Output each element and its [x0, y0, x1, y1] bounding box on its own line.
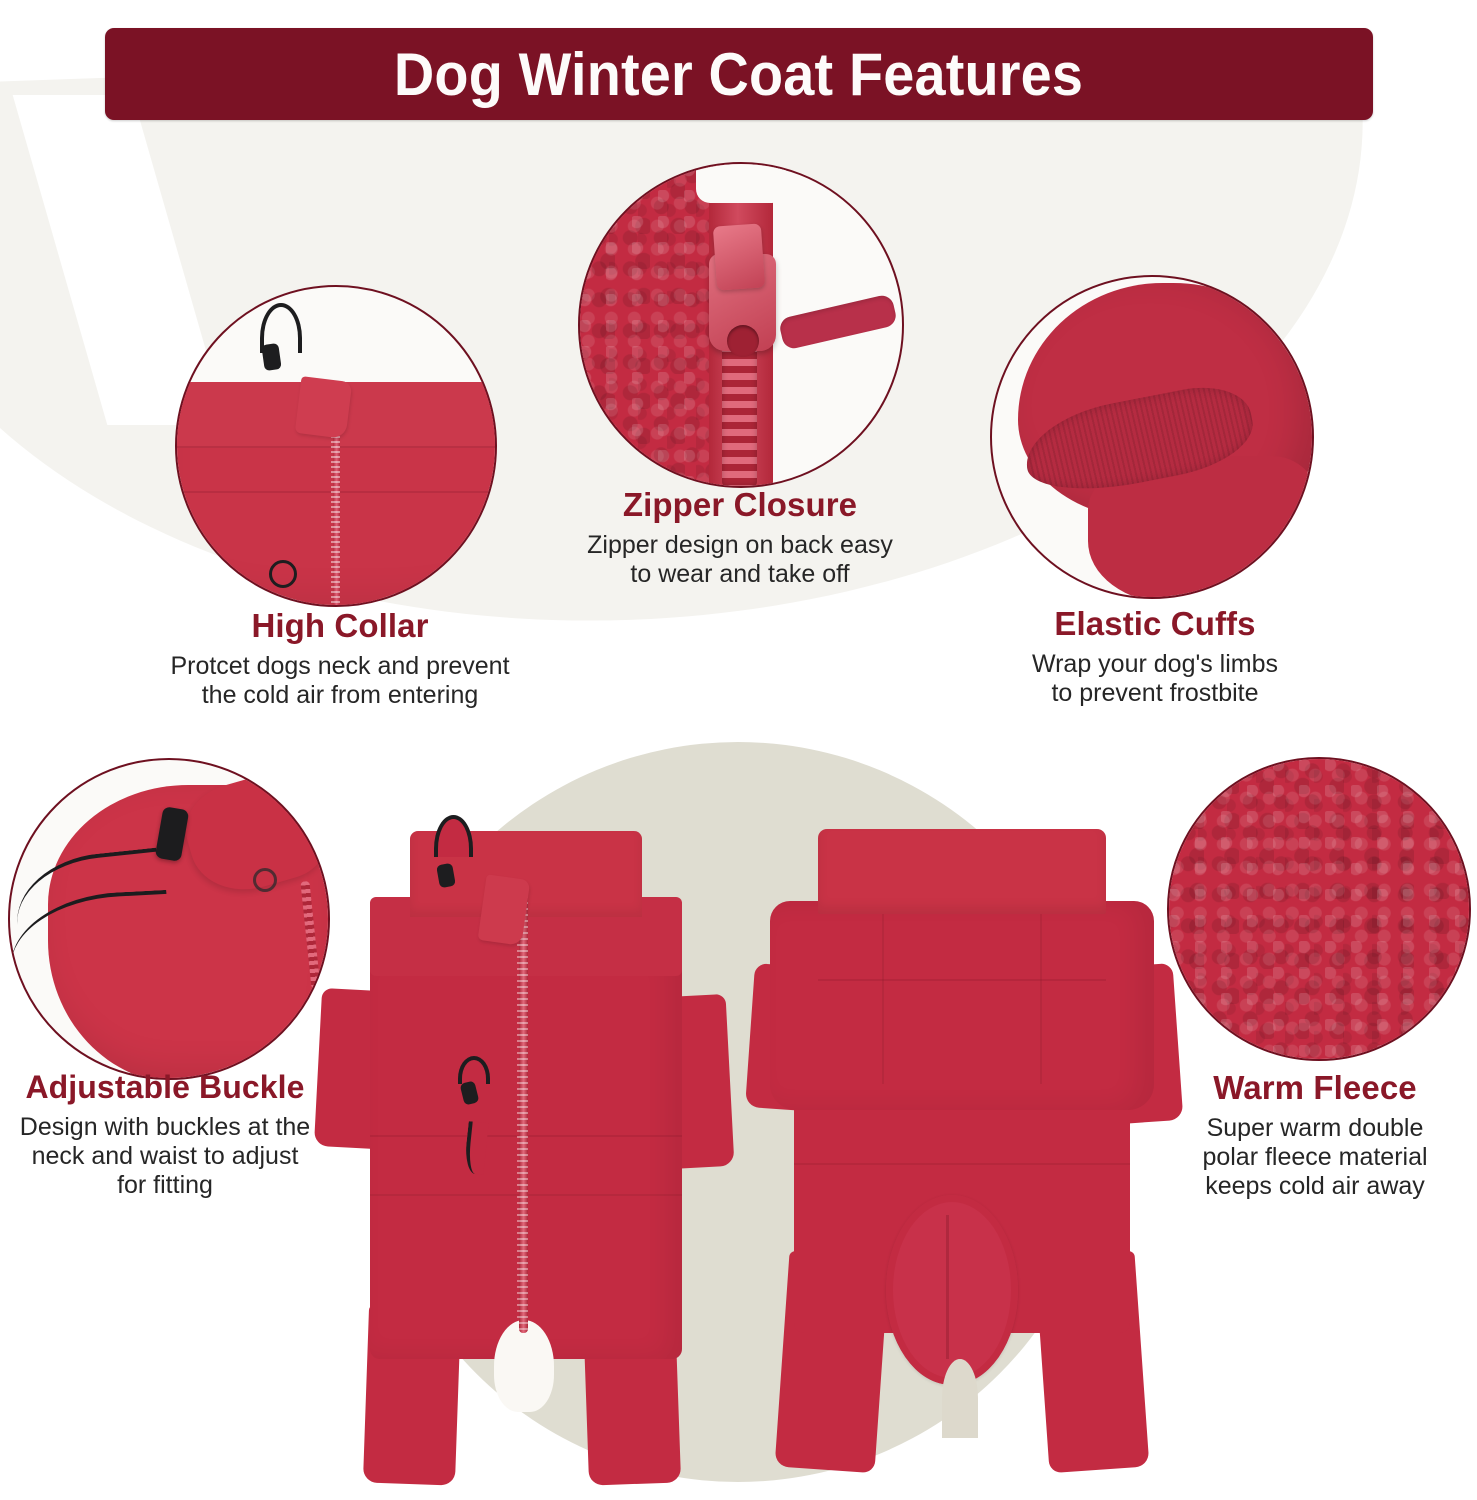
product-photo-front-view — [322, 818, 722, 1478]
zipper-fabric-ridge — [778, 293, 898, 350]
feature-description: Design with buckles at the neck and wais… — [0, 1113, 330, 1200]
back-collar — [818, 829, 1106, 914]
page-title: Dog Winter Coat Features — [394, 40, 1083, 109]
back-seam-vertical-right — [1040, 914, 1042, 1084]
feature-image-adjustable-buckle — [8, 758, 330, 1080]
feature-image-high-collar — [175, 285, 497, 607]
product-photo-back-view — [762, 822, 1162, 1477]
back-rear-opening — [886, 1195, 1018, 1385]
back-seam-waist — [794, 1163, 1130, 1165]
feature-heading: Zipper Closure — [520, 487, 960, 523]
cord-toggle-icon — [261, 343, 281, 371]
feature-heading: Warm Fleece — [1150, 1070, 1477, 1106]
fleece-texture-swatch — [1169, 759, 1469, 1059]
back-opening-slit — [946, 1215, 949, 1359]
feature-caption-elastic-cuffs: Elastic Cuffs Wrap your dog's limbs to p… — [935, 606, 1375, 708]
feature-description: Protcet dogs neck and prevent the cold a… — [120, 652, 560, 710]
zipper-pull-tab — [713, 224, 766, 292]
zipper-right-fleece-panel — [580, 164, 722, 486]
front-leg-gap — [494, 1320, 554, 1412]
back-seam-vertical-left — [882, 914, 884, 1084]
infographic-canvas: Dog Winter Coat Features High Collar Pro… — [0, 0, 1477, 1500]
collar-flap — [295, 376, 352, 439]
feature-caption-zipper-closure: Zipper Closure Zipper design on back eas… — [520, 487, 960, 589]
feature-description: Zipper design on back easy to wear and t… — [520, 531, 960, 589]
feature-image-elastic-cuffs — [990, 275, 1314, 599]
feature-caption-warm-fleece: Warm Fleece Super warm double polar flee… — [1150, 1070, 1477, 1201]
title-banner: Dog Winter Coat Features — [105, 28, 1373, 120]
feature-image-zipper-closure — [578, 162, 904, 488]
back-leg-gap — [942, 1359, 978, 1438]
front-zipper-teeth — [517, 884, 528, 1333]
feature-description: Wrap your dog's limbs to prevent frostbi… — [935, 650, 1375, 708]
zipper-top-notch — [696, 162, 786, 203]
zipper-pull-hole — [727, 325, 759, 357]
feature-image-warm-fleece — [1167, 757, 1471, 1061]
back-shoulders — [770, 901, 1154, 1111]
back-seam-band — [818, 979, 1106, 981]
feature-caption-high-collar: High Collar Protcet dogs neck and preven… — [120, 608, 560, 710]
feature-heading: High Collar — [120, 608, 560, 644]
front-neck-flap — [478, 875, 531, 946]
feature-description: Super warm double polar fleece material … — [1150, 1114, 1477, 1201]
front-neck-drawstring-icon — [434, 815, 473, 857]
feature-heading: Elastic Cuffs — [935, 606, 1375, 642]
feature-caption-adjustable-buckle: Adjustable Buckle Design with buckles at… — [0, 1070, 330, 1200]
feature-heading: Adjustable Buckle — [0, 1070, 330, 1105]
